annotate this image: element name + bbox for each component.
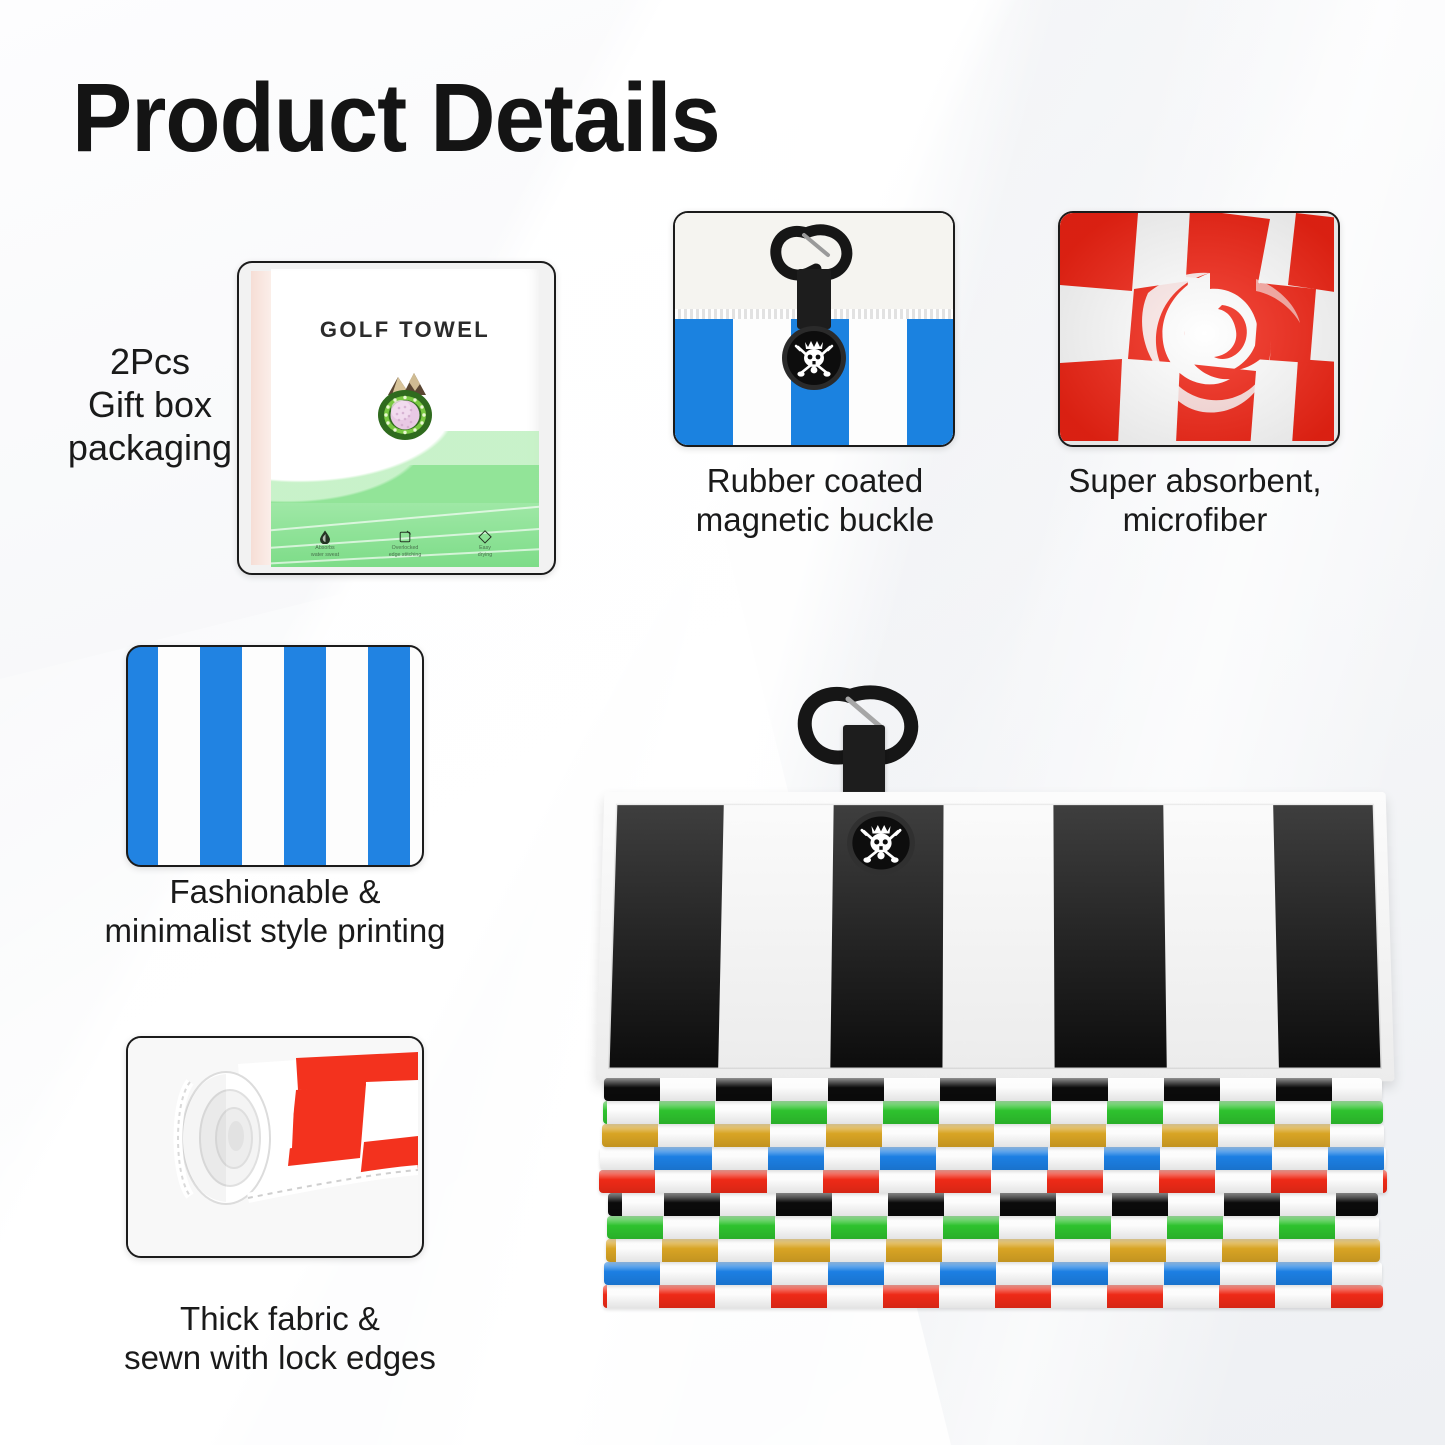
box-front-face: GOLF TOWEL (271, 269, 539, 567)
feature-image-magnetic-buckle (673, 211, 955, 447)
towel-fold-shading (607, 1216, 1379, 1239)
feature-image-microfiber (1058, 211, 1340, 447)
towel-fold (602, 1124, 1384, 1147)
towel-fold-shading (603, 1101, 1383, 1124)
towel-strap (843, 725, 885, 800)
box-title-text: GOLF TOWEL (271, 317, 539, 343)
feature-caption-thick-fabric: Thick fabric & sewn with lock edges (85, 1300, 475, 1378)
feature-image-thick-fabric (126, 1036, 424, 1258)
feature-caption-microfiber: Super absorbent, microfiber (1020, 462, 1370, 540)
towel-fold (608, 1193, 1378, 1216)
towel-fold (603, 1101, 1383, 1124)
stitch-square-icon (368, 528, 442, 545)
box-feature-icons: Absorbs water sweat Overlocked edge stit… (271, 528, 539, 559)
towel-fold (607, 1216, 1379, 1239)
feature-caption-style-printing: Fashionable & minimalist style printing (60, 873, 490, 951)
box-feature-item: Easy drying (448, 528, 522, 559)
skull-crown-golf-clubs-logo (843, 808, 919, 883)
towel-fold (606, 1239, 1380, 1262)
towel-fold (604, 1078, 1382, 1101)
skull-crown-golf-clubs-logo (781, 325, 847, 396)
towel-fold (600, 1147, 1386, 1170)
feature-image-gift-box: GOLF TOWEL (237, 261, 556, 575)
box-feature-item: Absorbs water sweat (288, 528, 362, 559)
box-feature-label: Easy drying (449, 546, 520, 559)
buckle-strap (797, 269, 831, 329)
towel-fold-shading (604, 1262, 1382, 1285)
towel-fold (603, 1285, 1383, 1308)
page-title: Product Details (72, 62, 720, 174)
water-drop-icon (288, 528, 362, 545)
rolled-towel-illustration (128, 1038, 418, 1252)
towel-fold-shading (599, 1170, 1387, 1193)
towel-fold-shading (600, 1147, 1386, 1170)
diamond-icon (448, 528, 522, 545)
top-towel (596, 792, 1395, 1081)
box-feature-item: Overlocked edge stitching (368, 528, 442, 559)
towel-fold-shading (604, 1078, 1382, 1101)
infographic-canvas: Product Details GOLF TOWEL (0, 0, 1445, 1445)
red-swirled-fabric (1060, 213, 1338, 445)
box-feature-label: Absorbs water sweat (289, 546, 360, 559)
feature-image-style-printing (126, 645, 424, 867)
towel-fold (599, 1170, 1387, 1193)
towel-fold (604, 1262, 1382, 1285)
feature-caption-gift-box: 2Pcs Gift box packaging (40, 340, 260, 470)
feature-caption-magnetic-buckle: Rubber coated magnetic buckle (640, 462, 990, 540)
box-feature-label: Overlocked edge stitching (369, 546, 440, 559)
towel-fold-shading (603, 1285, 1383, 1308)
towel-fold-shading (608, 1193, 1378, 1216)
towel-fold-shading (602, 1124, 1384, 1147)
towel-fold-shading (606, 1239, 1380, 1262)
hero-stacked-towels (560, 680, 1420, 1340)
